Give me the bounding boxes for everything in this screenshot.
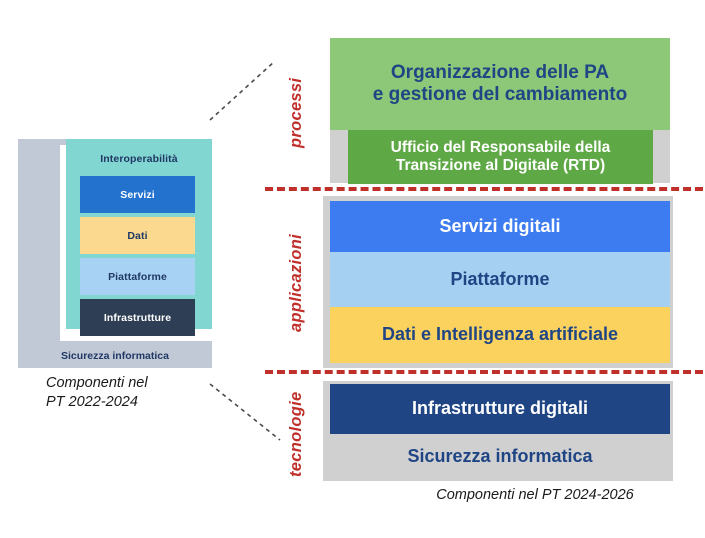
separator-processi-applicazioni bbox=[265, 187, 703, 191]
diagram-canvas: Interoperabilità Servizi Dati Piattaform… bbox=[0, 0, 705, 538]
block-organizzazione-line-1: Organizzazione delle PA bbox=[373, 62, 627, 84]
block-piattaforme: Piattaforme bbox=[330, 252, 670, 307]
block-ufficio-rtd: Ufficio del Responsabile della Transizio… bbox=[348, 130, 653, 184]
block-sicurezza-informatica: Sicurezza informatica bbox=[330, 434, 670, 479]
side-label-tecnologie: tecnologie bbox=[287, 382, 306, 487]
left-block-dati: Dati bbox=[80, 217, 195, 254]
connector-lower-dashed-line bbox=[200, 378, 290, 446]
side-label-processi: processi bbox=[287, 58, 306, 168]
connector-upper-dashed-line bbox=[205, 55, 285, 125]
left-block-sicurezza-informatica: Sicurezza informatica bbox=[18, 344, 212, 368]
block-infrastrutture-digitali: Infrastrutture digitali bbox=[330, 384, 670, 434]
side-label-applicazioni: applicazioni bbox=[287, 205, 306, 360]
left-label-interoperabilita: Interoperabilità bbox=[66, 153, 212, 165]
block-servizi-digitali: Servizi digitali bbox=[330, 201, 670, 252]
right-panel-caption: Componenti nel PT 2024-2026 bbox=[390, 487, 680, 503]
left-block-infrastrutture: Infrastrutture bbox=[80, 299, 195, 336]
left-block-piattaforme: Piattaforme bbox=[80, 258, 195, 295]
block-organizzazione-line-2: e gestione del cambiamento bbox=[373, 84, 627, 106]
block-ufficio-line-1: Ufficio del Responsabile della bbox=[391, 139, 611, 157]
separator-applicazioni-tecnologie bbox=[265, 370, 703, 374]
block-ufficio-line-2: Transizione al Digitale (RTD) bbox=[391, 157, 611, 175]
block-dati-e-intelligenza-artificiale: Dati e Intelligenza artificiale bbox=[330, 307, 670, 363]
left-panel-pt-2022-2024: Interoperabilità Servizi Dati Piattaform… bbox=[18, 139, 212, 368]
left-block-servizi: Servizi bbox=[80, 176, 195, 213]
block-organizzazione-delle-pa: Organizzazione delle PA e gestione del c… bbox=[330, 38, 670, 130]
